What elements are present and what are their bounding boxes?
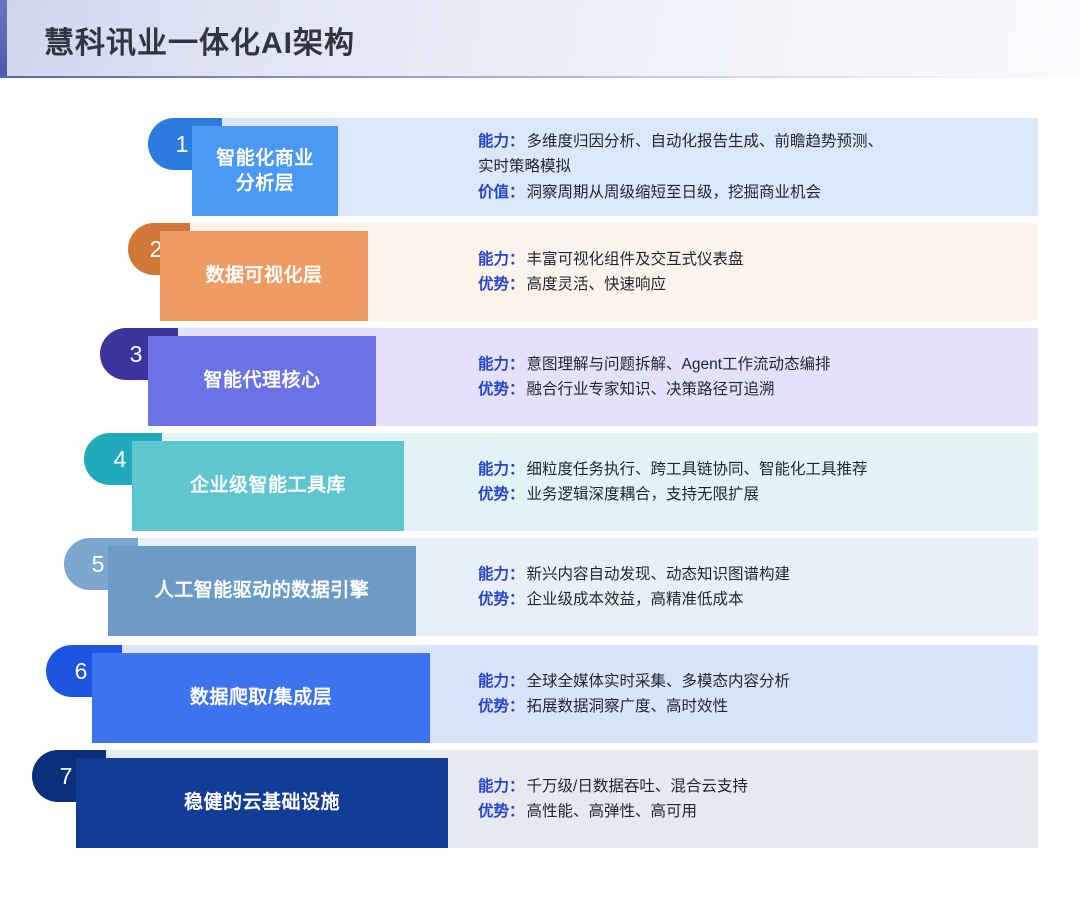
layer-name-text: 智能代理核心 (203, 368, 320, 393)
layer-number: 4 (114, 446, 127, 473)
layer-name-box[interactable]: 数据爬取/集成层 (92, 653, 430, 743)
layer-name-text: 数据可视化层 (205, 263, 322, 288)
detail-text: 洞察周期从周级缩短至日级，挖掘商业机会 (527, 184, 822, 201)
detail-label: 能力： (478, 356, 525, 373)
layer-name-text: 稳健的云基础设施 (184, 790, 340, 815)
detail-label: 优势： (478, 803, 525, 820)
layer-detail-block: 能力：细粒度任务执行、跨工具链协同、智能化工具推荐优势：业务逻辑深度耦合，支持无… (478, 433, 1038, 531)
layer-name-box[interactable]: 智能代理核心 (148, 336, 376, 426)
layer-row[interactable]: 2数据可视化层能力：丰富可视化组件及交互式仪表盘优势：高度灵活、快速响应 (0, 223, 1080, 321)
layer-detail-line: 能力：丰富可视化组件及交互式仪表盘 (478, 247, 1038, 272)
detail-text: 融合行业专家知识、决策路径可追溯 (527, 381, 775, 398)
layer-detail-line: 价值：洞察周期从周级缩短至日级，挖掘商业机会 (478, 180, 1038, 205)
layer-detail-block: 能力：丰富可视化组件及交互式仪表盘优势：高度灵活、快速响应 (478, 223, 1038, 321)
layer-name-box[interactable]: 企业级智能工具库 (132, 441, 404, 531)
detail-label: 能力： (478, 566, 525, 583)
layer-detail-line: 优势：高性能、高弹性、高可用 (478, 799, 1038, 824)
detail-label: 优势： (478, 591, 525, 608)
layer-detail-block: 能力：全球全媒体实时采集、多模态内容分析优势：拓展数据洞察广度、高时效性 (478, 645, 1038, 743)
header-divider (0, 76, 1080, 78)
diagram-page: 慧科讯业一体化AI架构 1智能化商业分析层能力：多维度归因分析、自动化报告生成、… (0, 0, 1080, 898)
detail-label: 能力： (478, 778, 525, 795)
layer-number: 7 (60, 763, 73, 790)
detail-label: 能力： (478, 461, 525, 478)
detail-text: 意图理解与问题拆解、Agent工作流动态编排 (527, 356, 831, 373)
page-title: 慧科讯业一体化AI架构 (44, 18, 355, 62)
layer-row[interactable]: 3智能代理核心能力：意图理解与问题拆解、Agent工作流动态编排优势：融合行业专… (0, 328, 1080, 426)
layer-name-text: 企业级智能工具库 (190, 473, 346, 498)
layer-detail-line: 优势：企业级成本效益，高精准低成本 (478, 587, 1038, 612)
layer-detail-line: 能力：多维度归因分析、自动化报告生成、前瞻趋势预测、 (478, 129, 1038, 154)
layer-detail-line: 能力：细粒度任务执行、跨工具链协同、智能化工具推荐 (478, 457, 1038, 482)
layer-detail-block: 能力：多维度归因分析、自动化报告生成、前瞻趋势预测、实时策略模拟价值：洞察周期从… (478, 118, 1038, 216)
layer-row[interactable]: 4企业级智能工具库能力：细粒度任务执行、跨工具链协同、智能化工具推荐优势：业务逻… (0, 433, 1080, 531)
detail-text: 实时策略模拟 (478, 158, 571, 175)
detail-text: 千万级/日数据吞吐、混合云支持 (527, 778, 748, 795)
detail-text: 拓展数据洞察广度、高时效性 (527, 698, 729, 715)
layer-row[interactable]: 6数据爬取/集成层能力：全球全媒体实时采集、多模态内容分析优势：拓展数据洞察广度… (0, 645, 1080, 743)
detail-text: 企业级成本效益，高精准低成本 (527, 591, 744, 608)
layer-detail-line: 优势：高度灵活、快速响应 (478, 272, 1038, 297)
layer-detail-line: 能力：新兴内容自动发现、动态知识图谱构建 (478, 562, 1038, 587)
detail-text: 多维度归因分析、自动化报告生成、前瞻趋势预测、 (527, 133, 884, 150)
layer-detail-line: 优势：业务逻辑深度耦合，支持无限扩展 (478, 482, 1038, 507)
detail-label: 优势： (478, 486, 525, 503)
detail-text: 细粒度任务执行、跨工具链协同、智能化工具推荐 (527, 461, 868, 478)
layer-detail-line: 能力：意图理解与问题拆解、Agent工作流动态编排 (478, 352, 1038, 377)
layer-detail-line: 实时策略模拟 (478, 154, 1038, 179)
layer-number: 6 (75, 658, 88, 685)
layer-detail-block: 能力：新兴内容自动发现、动态知识图谱构建优势：企业级成本效益，高精准低成本 (478, 538, 1038, 636)
detail-label: 优势： (478, 276, 525, 293)
detail-text: 高度灵活、快速响应 (527, 276, 667, 293)
detail-text: 丰富可视化组件及交互式仪表盘 (527, 251, 744, 268)
layer-number: 1 (176, 131, 189, 158)
layer-detail-block: 能力：千万级/日数据吞吐、混合云支持优势：高性能、高弹性、高可用 (478, 750, 1038, 848)
detail-label: 能力： (478, 673, 525, 690)
layer-name-box[interactable]: 数据可视化层 (160, 231, 368, 321)
detail-text: 新兴内容自动发现、动态知识图谱构建 (527, 566, 791, 583)
layer-row[interactable]: 1智能化商业分析层能力：多维度归因分析、自动化报告生成、前瞻趋势预测、实时策略模… (0, 118, 1080, 216)
page-header: 慧科讯业一体化AI架构 (0, 0, 1080, 78)
layer-detail-line: 优势：融合行业专家知识、决策路径可追溯 (478, 377, 1038, 402)
detail-label: 能力： (478, 133, 525, 150)
detail-text: 高性能、高弹性、高可用 (527, 803, 698, 820)
layer-name-text: 数据爬取/集成层 (190, 685, 332, 710)
layer-detail-line: 能力：千万级/日数据吞吐、混合云支持 (478, 774, 1038, 799)
detail-label: 优势： (478, 698, 525, 715)
layer-name-box[interactable]: 稳健的云基础设施 (76, 758, 448, 848)
layer-name-text: 智能化商业分析层 (216, 146, 314, 196)
detail-label: 能力： (478, 251, 525, 268)
layer-name-box[interactable]: 人工智能驱动的数据引擎 (108, 546, 416, 636)
layer-detail-block: 能力：意图理解与问题拆解、Agent工作流动态编排优势：融合行业专家知识、决策路… (478, 328, 1038, 426)
layer-detail-line: 能力：全球全媒体实时采集、多模态内容分析 (478, 669, 1038, 694)
detail-text: 业务逻辑深度耦合，支持无限扩展 (527, 486, 760, 503)
layer-number: 3 (130, 341, 143, 368)
layer-name-text: 人工智能驱动的数据引擎 (155, 578, 370, 603)
header-accent-bar (0, 0, 7, 78)
detail-text: 全球全媒体实时采集、多模态内容分析 (527, 673, 791, 690)
detail-label: 价值： (478, 184, 525, 201)
detail-label: 优势： (478, 381, 525, 398)
layer-name-box[interactable]: 智能化商业分析层 (192, 126, 338, 216)
layer-row[interactable]: 5人工智能驱动的数据引擎能力：新兴内容自动发现、动态知识图谱构建优势：企业级成本… (0, 538, 1080, 636)
layer-detail-line: 优势：拓展数据洞察广度、高时效性 (478, 694, 1038, 719)
layer-number: 5 (92, 551, 105, 578)
layer-row[interactable]: 7稳健的云基础设施能力：千万级/日数据吞吐、混合云支持优势：高性能、高弹性、高可… (0, 750, 1080, 848)
